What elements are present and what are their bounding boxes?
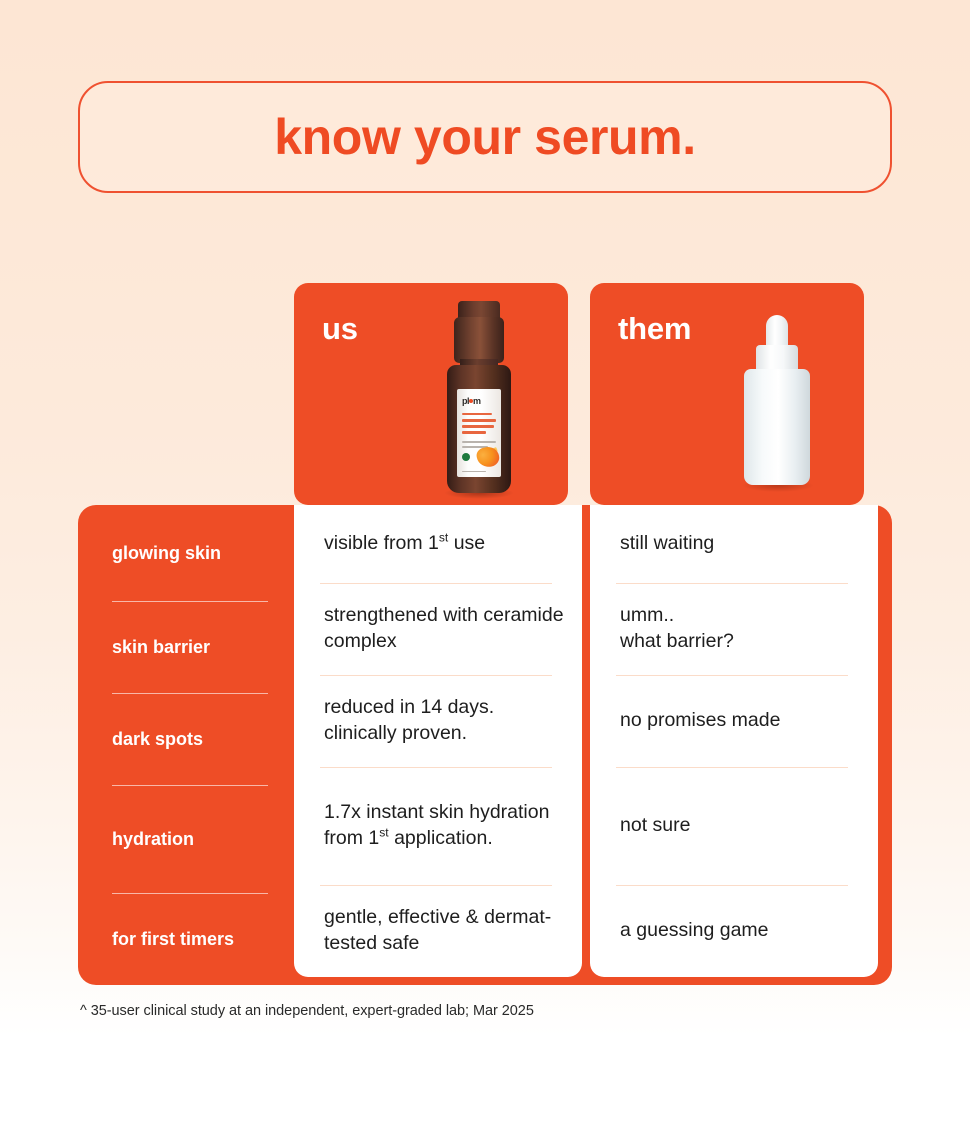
header-card-us: us plm — [294, 283, 568, 505]
table-body: glowing skin skin barrier dark spots hyd… — [78, 505, 892, 985]
us-value: 1.7x instant skin hydration from 1st app… — [324, 800, 564, 852]
table-row: glowing skin — [78, 505, 294, 601]
comparison-table: us plm — [78, 283, 892, 985]
plum-serum-bottle-image: plm — [430, 301, 526, 497]
table-row: hydration — [78, 785, 294, 893]
them-value: no promises made — [620, 708, 780, 734]
title-banner: know your serum. — [78, 81, 892, 193]
them-value: still waiting — [620, 531, 714, 557]
table-cell: umm.. what barrier? — [590, 583, 878, 675]
table-cell: still waiting — [590, 505, 878, 583]
column-header-us: us — [322, 311, 358, 347]
table-cell: not sure — [590, 767, 878, 885]
table-cell: strengthened with ceramide complex — [294, 583, 582, 675]
them-value: umm.. what barrier? — [620, 603, 734, 655]
table-cell: gentle, effective & dermat-tested safe — [294, 885, 582, 977]
feature-label-column: glowing skin skin barrier dark spots hyd… — [78, 505, 294, 985]
us-value: gentle, effective & dermat-tested safe — [324, 905, 564, 957]
us-value: reduced in 14 days. clinically proven. — [324, 695, 564, 747]
them-value-column: still waiting umm.. what barrier? no pro… — [590, 505, 878, 977]
table-cell: visible from 1st use — [294, 505, 582, 583]
feature-label: glowing skin — [112, 542, 221, 565]
header-card-them: them — [590, 283, 864, 505]
table-row: skin barrier — [78, 601, 294, 693]
brand-mark: plm — [462, 396, 481, 406]
table-row: dark spots — [78, 693, 294, 785]
bottle-label: plm — [457, 389, 501, 477]
feature-label: skin barrier — [112, 636, 210, 659]
column-header-them: them — [618, 311, 691, 347]
page-title: know your serum. — [274, 112, 695, 162]
poster-canvas: know your serum. us plm — [0, 0, 970, 1126]
feature-label: hydration — [112, 828, 194, 851]
table-cell: a guessing game — [590, 885, 878, 977]
table-cell: no promises made — [590, 675, 878, 767]
table-cell: reduced in 14 days. clinically proven. — [294, 675, 582, 767]
bottle-body — [744, 369, 810, 485]
feature-label: dark spots — [112, 728, 203, 751]
them-value: a guessing game — [620, 918, 769, 944]
eco-badge-icon — [462, 453, 470, 461]
us-value: strengthened with ceramide complex — [324, 603, 564, 655]
us-value-column: visible from 1st use strengthened with c… — [294, 505, 582, 977]
them-value: not sure — [620, 813, 690, 839]
table-row: for first timers — [78, 893, 294, 985]
footnote: ^ 35-user clinical study at an independe… — [80, 1003, 534, 1019]
bottle-collar — [454, 317, 504, 363]
us-value: visible from 1st use — [324, 531, 485, 557]
feature-label: for first timers — [112, 928, 234, 951]
table-cell: 1.7x instant skin hydration from 1st app… — [294, 767, 582, 885]
generic-dropper-bottle-image — [734, 315, 820, 493]
